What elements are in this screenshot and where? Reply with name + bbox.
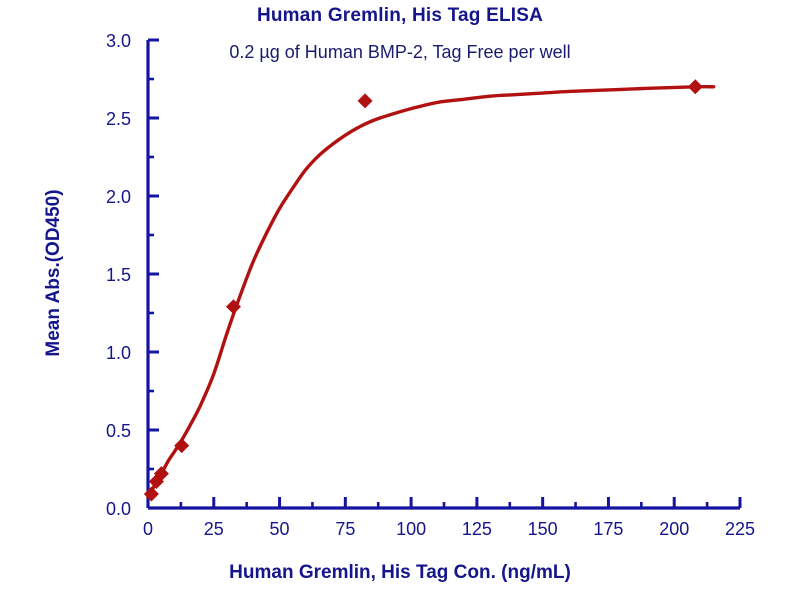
- x-axis-tick-label: 25: [204, 519, 224, 539]
- elisa-binding-curve-chart: Human Gremlin, His Tag ELISA 0.2 µg of H…: [0, 0, 800, 600]
- x-axis-tick-label: 50: [270, 519, 290, 539]
- x-axis-tick-label: 100: [396, 519, 426, 539]
- x-axis-tick-label: 75: [335, 519, 355, 539]
- y-axis-tick-label: 2.0: [106, 187, 131, 207]
- x-axis-tick-label: 200: [659, 519, 689, 539]
- y-axis-tick-label: 3.0: [106, 31, 131, 51]
- axes-group: [148, 40, 740, 508]
- x-axis-tick-label: 175: [593, 519, 623, 539]
- x-axis-tick-label: 0: [143, 519, 153, 539]
- y-axis-tick-label: 1.5: [106, 265, 131, 285]
- fit-curve-group: [148, 87, 714, 497]
- x-axis-tick-label: 150: [528, 519, 558, 539]
- y-axis-tick-label: 1.0: [106, 343, 131, 363]
- tick-labels-group: 02550751001251501752002250.00.51.01.52.0…: [106, 31, 755, 539]
- y-axis-tick-label: 0.5: [106, 421, 131, 441]
- y-axis-tick-label: 0.0: [106, 499, 131, 519]
- x-axis-tick-label: 125: [462, 519, 492, 539]
- plot-area: 02550751001251501752002250.00.51.01.52.0…: [0, 0, 800, 600]
- data-point-marker: [358, 93, 373, 108]
- y-axis-tick-label: 2.5: [106, 109, 131, 129]
- tick-marks-group: [148, 40, 740, 508]
- fit-curve-path: [148, 87, 714, 497]
- x-axis-tick-label: 225: [725, 519, 755, 539]
- data-markers-group: [144, 79, 703, 501]
- data-point-marker: [688, 79, 703, 94]
